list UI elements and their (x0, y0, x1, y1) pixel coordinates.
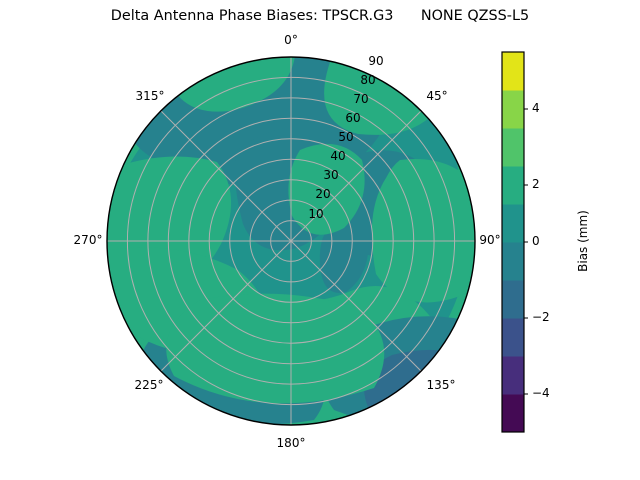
colorbar-band (502, 166, 524, 205)
radial-tick-label: 40 (330, 149, 345, 163)
radial-tick-label: 80 (360, 73, 375, 87)
angular-tick-label: 180° (277, 436, 306, 450)
angular-gridlines (107, 57, 475, 425)
radial-tick-label: 10 (308, 207, 323, 221)
radial-tick-label: 20 (315, 187, 330, 201)
radial-tick-label: 30 (323, 168, 338, 182)
colorbar-band (502, 280, 524, 319)
colorbar-bands (502, 52, 524, 433)
radial-tick-label: 70 (353, 92, 368, 106)
colorbar-band (502, 318, 524, 357)
figure-canvas: Delta Antenna Phase Biases: TPSCR.G3 NON… (0, 0, 640, 480)
colorbar-band (502, 394, 524, 433)
radial-tick-label: 90 (368, 54, 383, 68)
colorbar-band (502, 242, 524, 281)
colorbar-band (502, 52, 524, 91)
colorbar-tick-label: 0 (532, 234, 540, 248)
colorbar-axis-title: Bias (mm) (576, 210, 590, 272)
radial-tick-label: 50 (338, 130, 353, 144)
angular-tick-label: 90° (479, 233, 500, 247)
colorbar-band (502, 90, 524, 129)
colorbar-tick-label: −4 (532, 386, 550, 400)
contour-band-green-bottom (166, 294, 384, 404)
angular-tick-label: 0° (284, 33, 298, 47)
colorbar-band (502, 128, 524, 167)
colorbar-band (502, 356, 524, 395)
angular-tick-label: 315° (136, 89, 165, 103)
page-title: Delta Antenna Phase Biases: TPSCR.G3 NON… (0, 8, 640, 24)
colorbar-tick-label: −2 (532, 310, 550, 324)
angular-tick-label: 135° (427, 378, 456, 392)
radial-tick-label: 60 (345, 111, 360, 125)
angular-tick-label: 270° (74, 233, 103, 247)
colorbar-tick-label: 4 (532, 101, 540, 115)
angular-tick-label: 225° (135, 378, 164, 392)
colorbar-band (502, 204, 524, 243)
colorbar-tick-label: 2 (532, 177, 540, 191)
angular-tick-label: 45° (426, 89, 447, 103)
